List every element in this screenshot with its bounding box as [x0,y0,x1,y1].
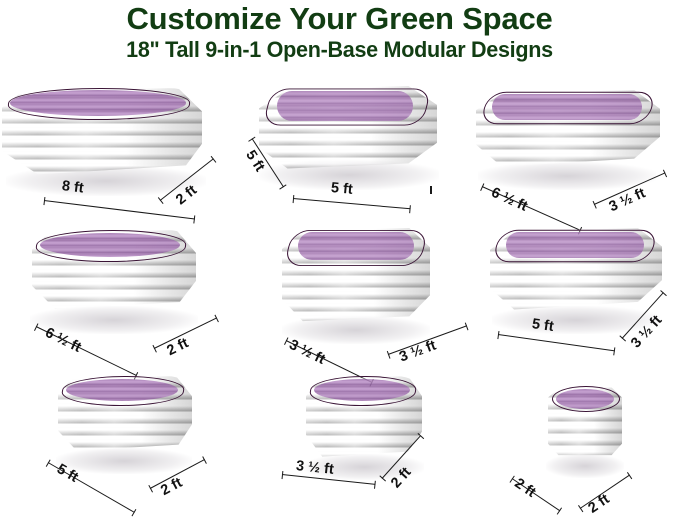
dimension-line-length [44,200,195,220]
product-5-3half-rect[interactable]: 5 ft 3 ½ ft [470,222,679,364]
product-3half-2-oval[interactable]: 3 ½ ft 2 ft [256,370,470,506]
planter-body [2,88,202,178]
top-rim [491,230,658,262]
product-5x5-square[interactable]: 5 ft 5 ft [245,82,455,222]
page-title: Customize Your Green Space [0,2,679,36]
product-3half-3half-square[interactable]: 3 ½ ft 3 ½ ft [248,222,470,364]
top-rim [6,88,191,120]
planter-body [58,376,192,454]
dimension-label-width: 2 ft [164,335,191,359]
dimension-label-length: 5 ft [330,180,353,198]
dimension-label-length: 5 ft [531,316,555,335]
dimension-line-length [498,334,615,351]
planter-body [476,90,660,168]
dimension-label-width: 2 ft [586,491,613,516]
planter-body [490,228,662,312]
product-grid: 8 ft 2 ft 5 ft 5 ft [0,82,679,506]
dimension-label-length: 3 ½ ft [295,458,334,478]
planter-body [32,230,196,312]
product-6half-3half-rect[interactable]: 6 ½ ft 3 ½ ft [462,82,679,222]
planter-body [306,376,422,460]
dimension-label-length: 8 ft [61,178,85,197]
planter-body [282,228,430,324]
top-rim [284,230,429,266]
dimension-line-length [293,198,411,209]
planter-body [548,386,622,458]
header: Customize Your Green Space 18" Tall 9-in… [0,0,679,63]
page-subtitle: 18" Tall 9-in-1 Open-Base Modular Design… [7,37,672,63]
product-5-2-oval[interactable]: 5 ft 2 ft [20,370,240,506]
product-2-2-round[interactable]: 2 ft 2 ft [478,370,679,506]
dimension-label-width: 2 ft [158,475,185,499]
dimension-label-length: 2 ft [512,475,539,500]
top-rim [552,386,620,412]
product-8x2-oval[interactable]: 8 ft 2 ft [0,82,240,222]
top-rim [262,89,431,126]
product-6half-2-oval[interactable]: 6 ½ ft 2 ft [8,222,240,364]
planter-body [259,86,437,172]
top-rim [479,92,656,124]
